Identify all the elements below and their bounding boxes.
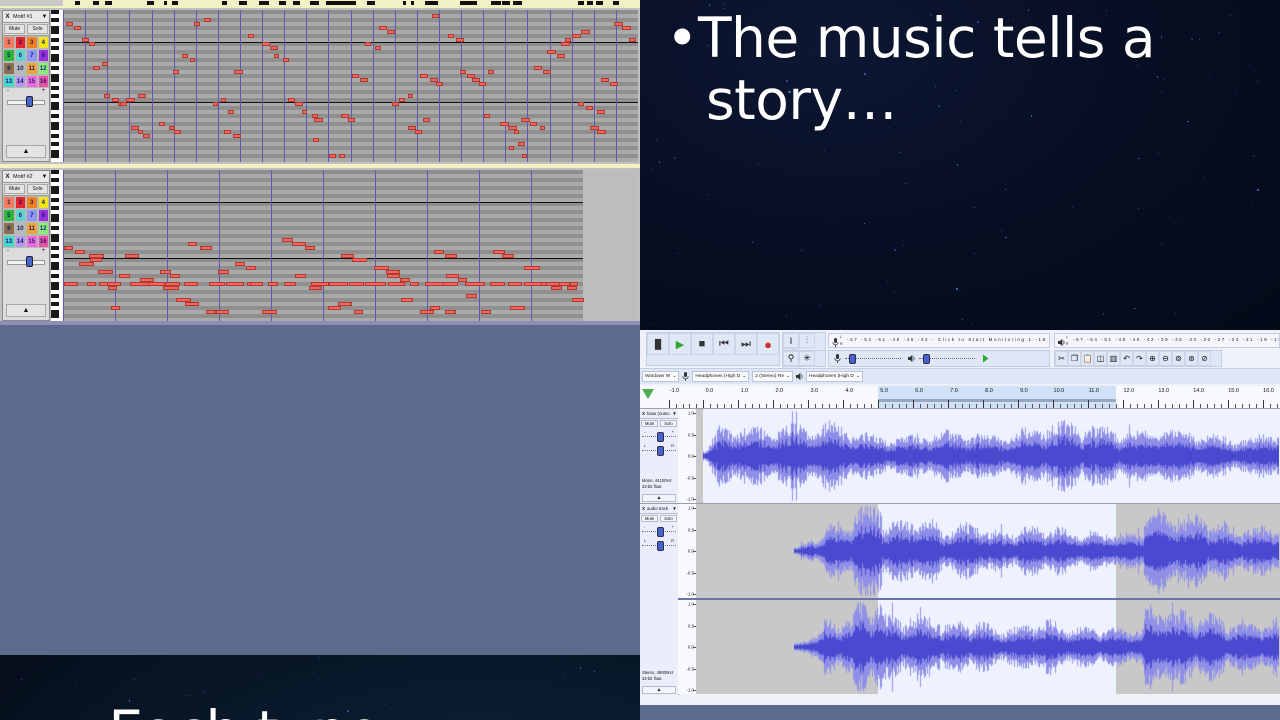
paste-button[interactable]: 📋 [1081, 351, 1094, 366]
midi-note[interactable] [484, 114, 490, 118]
midi-note[interactable] [339, 154, 346, 158]
midi-note[interactable] [349, 282, 364, 286]
midi-note[interactable] [401, 298, 413, 302]
midi-note[interactable] [226, 282, 244, 286]
piano-black-key[interactable] [51, 286, 59, 290]
midi-note[interactable] [93, 66, 100, 70]
midi-note[interactable] [313, 138, 319, 142]
midi-note[interactable] [534, 66, 542, 70]
midi-note[interactable] [567, 286, 577, 290]
mixer-toolbar[interactable] [828, 350, 1050, 367]
midi-track-2-pattern-11[interactable]: 11 [26, 222, 38, 235]
midi-note[interactable] [524, 282, 542, 286]
audio-track-2-vertical-ruler-left[interactable]: 1.00.50.0-0.5-1.0 [678, 504, 697, 598]
midi-note[interactable] [75, 250, 85, 254]
midi-track-2-pattern-3[interactable]: 3 [26, 196, 38, 209]
midi-note[interactable] [524, 266, 540, 270]
midi-note[interactable] [423, 118, 430, 122]
midi-track-2-pattern-12[interactable]: 12 [38, 222, 50, 235]
midi-note[interactable] [224, 130, 231, 134]
midi-note[interactable] [338, 302, 353, 306]
piano-black-key[interactable] [51, 38, 59, 42]
piano-black-key[interactable] [51, 18, 59, 22]
midi-note[interactable] [565, 38, 571, 42]
midi-note[interactable] [514, 130, 519, 134]
slider-knob[interactable] [26, 256, 33, 267]
midi-track-1-header[interactable]: X Motif #1 ▼ Mute Solo 12345678910111213… [2, 10, 50, 162]
trim-audio-button[interactable]: ◫ [1094, 351, 1107, 366]
piano-black-key[interactable] [51, 86, 59, 90]
midi-note[interactable] [375, 46, 381, 50]
midi-note[interactable] [572, 34, 581, 38]
piano-black-key[interactable] [51, 170, 59, 174]
midi-note[interactable] [388, 282, 405, 286]
midi-track-2-pattern-13[interactable]: 13 [3, 235, 15, 248]
midi-note[interactable] [209, 282, 225, 286]
audio-track-2-waveform-right[interactable] [696, 600, 1280, 694]
chevron-down-icon[interactable]: ▼ [40, 174, 49, 180]
copy-button[interactable]: ❐ [1068, 351, 1081, 366]
piano-black-key[interactable] [51, 198, 59, 202]
midi-note[interactable] [262, 42, 270, 46]
audio-track-1-panel[interactable]: X base (outso ▼ Mute Solo - + L [640, 409, 679, 503]
midi-note[interactable] [508, 282, 522, 286]
midi-track-2-solo-button[interactable]: Solo [27, 184, 48, 194]
midi-note[interactable] [165, 282, 180, 286]
midi-note[interactable] [262, 310, 277, 314]
play-button[interactable]: ▶ [669, 333, 691, 355]
slider-knob[interactable] [657, 446, 664, 456]
piano-black-key[interactable] [51, 58, 59, 62]
midi-note[interactable] [456, 38, 464, 42]
slider-knob[interactable] [849, 354, 856, 364]
pause-button[interactable]: ▐▌ [647, 333, 669, 355]
midi-track-2-collapse-button[interactable]: ▲ [6, 304, 46, 317]
midi-track-1-pattern-15[interactable]: 15 [26, 75, 38, 88]
midi-track-1-pattern-grid[interactable]: 12345678910111213141516 [3, 36, 49, 88]
pinned-play-head-icon[interactable] [642, 389, 654, 399]
midi-track-1-name[interactable]: Motif #1 [12, 14, 40, 20]
audio-track-1-name[interactable]: base (outso [647, 411, 671, 416]
midi-note[interactable] [448, 34, 455, 38]
midi-note[interactable] [235, 262, 245, 266]
audio-track-2-panel[interactable]: X audio track ▼ Mute Solo - + L [640, 504, 679, 695]
device-toolbar[interactable]: Windows W ⌄Headphones (High D ⌄2 (Stereo… [640, 368, 1280, 384]
transport-toolbar[interactable]: ▐▌▶■⏮⏭● [646, 332, 780, 366]
midi-note[interactable] [163, 286, 179, 290]
midi-note[interactable] [365, 282, 386, 286]
midi-note[interactable] [250, 282, 263, 286]
chevron-down-icon[interactable]: ▼ [40, 14, 49, 20]
slider-knob[interactable] [26, 96, 33, 107]
midi-note[interactable] [430, 306, 440, 310]
midi-note[interactable] [111, 306, 121, 310]
midi-note[interactable] [87, 282, 96, 286]
midi-note[interactable] [434, 250, 444, 254]
midi-note[interactable] [420, 310, 435, 314]
midi-note[interactable] [126, 98, 135, 102]
recording-device-select[interactable]: Headphones (High D ⌄ [692, 371, 749, 382]
midi-note[interactable] [629, 38, 637, 42]
slider-knob[interactable] [923, 354, 930, 364]
midi-note[interactable] [488, 70, 494, 74]
audio-track-1[interactable]: X base (outso ▼ Mute Solo - + L [640, 408, 1280, 503]
midi-note[interactable] [143, 134, 150, 138]
piano-black-key[interactable] [51, 254, 59, 258]
redo-button[interactable]: ↷ [1133, 351, 1146, 366]
piano-black-key[interactable] [51, 134, 59, 138]
audio-track-2-mute-button[interactable]: Mute [641, 515, 658, 522]
midi-track-2[interactable]: X Motif #2 ▼ Mute Solo 12345678910111213… [0, 166, 640, 325]
midi-track-1-solo-button[interactable]: Solo [27, 24, 48, 34]
undo-button[interactable]: ↶ [1120, 351, 1133, 366]
midi-note[interactable] [561, 42, 570, 46]
midi-note[interactable] [329, 154, 337, 158]
stop-button[interactable]: ■ [691, 333, 713, 355]
midi-note[interactable] [387, 30, 395, 34]
audio-track-1-waveform[interactable] [696, 409, 1280, 503]
midi-note[interactable] [79, 262, 94, 266]
midi-note[interactable] [108, 286, 118, 290]
midi-track-2-pattern-1[interactable]: 1 [3, 196, 15, 209]
piano-black-key[interactable] [51, 154, 59, 158]
midi-note[interactable] [170, 274, 180, 278]
midi-note[interactable] [188, 242, 197, 246]
midi-note[interactable] [420, 74, 427, 78]
midi-note[interactable] [518, 142, 526, 146]
midi-note[interactable] [547, 50, 556, 54]
audio-track-2-gain-slider[interactable]: - + [642, 524, 676, 537]
zoom-tool[interactable]: ⚲ [783, 351, 799, 366]
midi-note[interactable] [597, 110, 605, 114]
midi-note[interactable] [173, 70, 179, 74]
piano-black-key[interactable] [51, 206, 59, 210]
slider-knob[interactable] [657, 432, 664, 442]
midi-note[interactable] [509, 146, 515, 150]
midi-note[interactable] [295, 274, 306, 278]
piano-black-key[interactable] [51, 274, 59, 278]
zoom-in-button[interactable]: ⊕ [1146, 351, 1159, 366]
midi-note[interactable] [510, 306, 525, 310]
midi-note[interactable] [64, 246, 73, 250]
record-button[interactable]: ● [757, 333, 779, 355]
audio-track-1-solo-button[interactable]: Solo [660, 420, 677, 427]
midi-note[interactable] [284, 282, 296, 286]
midi-note[interactable] [64, 282, 78, 286]
midi-track-1-pattern-1[interactable]: 1 [3, 36, 15, 49]
midi-note[interactable] [460, 70, 467, 74]
midi-note[interactable] [74, 26, 81, 30]
audio-track-2-name[interactable]: audio track [647, 506, 671, 511]
midi-track-1-note-area[interactable] [63, 10, 638, 162]
midi-note[interactable] [228, 110, 235, 114]
midi-note[interactable] [522, 154, 527, 158]
midi-track-1-pattern-4[interactable]: 4 [38, 36, 50, 49]
midi-note[interactable] [415, 130, 422, 134]
midi-track-2-pattern-5[interactable]: 5 [3, 209, 15, 222]
audio-track-2-solo-button[interactable]: Solo [660, 515, 677, 522]
midi-track-2-volume-slider[interactable]: - + [3, 248, 49, 274]
midi-note[interactable] [66, 22, 73, 26]
midi-note[interactable] [352, 74, 359, 78]
selection-tool[interactable]: I [783, 333, 799, 348]
recording-volume-slider[interactable] [843, 351, 903, 365]
waveform-canvas[interactable] [703, 409, 1279, 503]
midi-note[interactable] [159, 122, 165, 126]
midi-note[interactable] [130, 282, 149, 286]
tools-toolbar-row2[interactable]: ⚲✳↔ [782, 350, 826, 367]
midi-track-1-pattern-10[interactable]: 10 [15, 62, 27, 75]
envelope-tool[interactable]: ⫶ [799, 333, 815, 348]
waveform-canvas[interactable] [794, 600, 1279, 694]
midi-track-2-pattern-8[interactable]: 8 [38, 209, 50, 222]
midi-note[interactable] [570, 282, 578, 286]
midi-note[interactable] [174, 130, 181, 134]
midi-note[interactable] [148, 282, 165, 286]
audio-track-2-close-icon[interactable]: X [640, 506, 647, 511]
piano-black-key[interactable] [51, 246, 59, 250]
midi-track-2-note-area[interactable] [63, 170, 638, 321]
piano-black-key[interactable] [51, 30, 59, 34]
fit-selection-button[interactable]: ⊚ [1172, 351, 1185, 366]
piano-black-key[interactable] [51, 10, 59, 14]
audio-host-select[interactable]: Windows W ⌄ [642, 371, 679, 382]
midi-note[interactable] [89, 42, 95, 46]
audio-track-1-gain-slider[interactable]: - + [642, 429, 676, 442]
waveform-canvas[interactable] [794, 504, 1279, 598]
midi-note[interactable] [410, 282, 419, 286]
midi-note[interactable] [90, 258, 102, 262]
midi-track-1-pattern-14[interactable]: 14 [15, 75, 27, 88]
midi-note[interactable] [572, 298, 584, 302]
piano-black-key[interactable] [51, 226, 59, 230]
midi-note[interactable] [445, 310, 456, 314]
midi-note[interactable] [490, 282, 505, 286]
midi-track-1-pattern-16[interactable]: 16 [38, 75, 50, 88]
midi-note[interactable] [120, 102, 128, 106]
audio-track-2-vertical-ruler-right[interactable]: 1.00.50.0-0.5-1.0 [678, 600, 697, 694]
midi-note[interactable] [182, 54, 188, 58]
piano-black-key[interactable] [51, 46, 59, 50]
midi-note[interactable] [305, 246, 315, 250]
midi-note[interactable] [586, 106, 593, 110]
midi-track-1-pattern-3[interactable]: 3 [26, 36, 38, 49]
midi-note[interactable] [466, 294, 477, 298]
midi-note[interactable] [274, 54, 280, 58]
midi-note[interactable] [268, 282, 277, 286]
skip-to-start-button[interactable]: ⏮ [713, 333, 735, 355]
midi-note[interactable] [119, 274, 131, 278]
midi-note[interactable] [543, 70, 551, 74]
midi-note[interactable] [530, 122, 537, 126]
playback-volume-slider[interactable] [917, 351, 977, 365]
midi-note[interactable] [218, 270, 230, 274]
audio-track-1-collapse-button[interactable]: ▲ [642, 494, 676, 502]
midi-note[interactable] [481, 310, 491, 314]
midi-note[interactable] [82, 38, 89, 42]
audio-clip-mono[interactable] [703, 409, 1280, 503]
midi-note[interactable] [352, 258, 367, 262]
midi-note[interactable] [213, 102, 218, 106]
midi-note[interactable] [292, 242, 307, 246]
midi-note[interactable] [190, 58, 195, 62]
midi-note[interactable] [233, 134, 242, 138]
silence-audio-button[interactable]: ▥ [1107, 351, 1120, 366]
piano-black-key[interactable] [51, 178, 59, 182]
midi-note[interactable] [107, 282, 121, 286]
audio-track-2-waveform-left[interactable] [696, 504, 1280, 598]
midi-note[interactable] [399, 98, 405, 102]
piano-black-key[interactable] [51, 114, 59, 118]
fit-project-button[interactable]: ⊛ [1185, 351, 1198, 366]
zoom-out-button[interactable]: ⊖ [1159, 351, 1172, 366]
midi-track-1-pattern-13[interactable]: 13 [3, 75, 15, 88]
audio-clip-channel-right[interactable] [794, 600, 1280, 694]
midi-note[interactable] [200, 246, 212, 250]
midi-note[interactable] [302, 110, 307, 114]
piano-black-key[interactable] [51, 66, 59, 70]
midi-track-1-pattern-11[interactable]: 11 [26, 62, 38, 75]
midi-track-2-pattern-14[interactable]: 14 [15, 235, 27, 248]
piano-black-key[interactable] [51, 294, 59, 298]
midi-note[interactable] [234, 70, 243, 74]
midi-note[interactable] [295, 102, 303, 106]
audio-track-2[interactable]: X audio track ▼ Mute Solo - + L [640, 503, 1280, 695]
midi-track-2-pattern-9[interactable]: 9 [3, 222, 15, 235]
slider-knob[interactable] [657, 527, 664, 537]
playback-meter-toolbar[interactable]: LR -57 -54 -51 -48 -45 -42 -39 -36 -33 -… [1054, 333, 1280, 348]
midi-note[interactable] [578, 102, 584, 106]
midi-track-1-pattern-6[interactable]: 6 [15, 49, 27, 62]
midi-note[interactable] [311, 282, 330, 286]
midi-track-1-pattern-12[interactable]: 12 [38, 62, 50, 75]
cut-button[interactable]: ✂ [1055, 351, 1068, 366]
multi-tool[interactable]: ✳ [799, 351, 815, 366]
midi-note[interactable] [502, 254, 514, 258]
audio-clip-channel-left[interactable] [794, 504, 1280, 598]
midi-note[interactable] [557, 54, 565, 58]
midi-note[interactable] [622, 26, 631, 30]
midi-note[interactable] [365, 42, 371, 46]
chevron-down-icon[interactable]: ▼ [671, 411, 678, 416]
midi-track-2-pattern-16[interactable]: 16 [38, 235, 50, 248]
zoom-toggle-button[interactable]: ⊘ [1198, 351, 1211, 366]
midi-note[interactable] [328, 306, 341, 310]
midi-note[interactable] [601, 78, 609, 82]
piano-black-key[interactable] [51, 126, 59, 130]
piano-black-key[interactable] [51, 238, 59, 242]
midi-note[interactable] [314, 118, 323, 122]
midi-note[interactable] [479, 82, 486, 86]
midi-note[interactable] [185, 302, 199, 306]
audio-track-2-collapse-button[interactable]: ▲ [642, 686, 676, 694]
midi-note[interactable] [270, 46, 278, 50]
midi-track-2-pattern-7[interactable]: 7 [26, 209, 38, 222]
audio-track-1-close-icon[interactable]: X [640, 411, 647, 416]
midi-note[interactable] [408, 94, 413, 98]
midi-note[interactable] [184, 282, 198, 286]
midi-note[interactable] [216, 310, 229, 314]
piano-black-key[interactable] [51, 218, 59, 222]
midi-note[interactable] [610, 82, 617, 86]
midi-note[interactable] [445, 254, 457, 258]
midi-track-1[interactable]: X Motif #1 ▼ Mute Solo 12345678910111213… [0, 6, 640, 166]
slider-knob[interactable] [657, 541, 664, 551]
midi-note[interactable] [436, 82, 443, 86]
midi-track-2-mute-button[interactable]: Mute [4, 184, 25, 194]
midi-note[interactable] [465, 282, 485, 286]
midi-track-2-pattern-15[interactable]: 15 [26, 235, 38, 248]
midi-track-2-name[interactable]: Motif #2 [12, 174, 40, 180]
audio-track-2-pan-slider[interactable]: L R [642, 538, 676, 551]
midi-track-2-pattern-2[interactable]: 2 [15, 196, 27, 209]
midi-note[interactable] [329, 282, 348, 286]
midi-track-1-pattern-8[interactable]: 8 [38, 49, 50, 62]
midi-note[interactable] [540, 126, 545, 130]
midi-note[interactable] [387, 274, 400, 278]
midi-note[interactable] [379, 26, 387, 30]
midi-track-2-header[interactable]: X Motif #2 ▼ Mute Solo 12345678910111213… [2, 170, 50, 321]
midi-track-1-close-icon[interactable]: X [3, 14, 12, 20]
audio-track-1-mute-button[interactable]: Mute [641, 420, 658, 427]
midi-track-2-pattern-grid[interactable]: 12345678910111213141516 [3, 196, 49, 248]
audio-track-1-vertical-ruler[interactable]: 1.00.50.0-0.5-1.0 [678, 409, 697, 503]
midi-note[interactable] [425, 282, 445, 286]
midi-note[interactable] [104, 94, 110, 98]
midi-note[interactable] [248, 34, 255, 38]
midi-track-1-pattern-2[interactable]: 2 [15, 36, 27, 49]
midi-note[interactable] [206, 310, 216, 314]
midi-note[interactable] [204, 18, 212, 22]
piano-black-key[interactable] [51, 314, 59, 318]
recording-meter-toolbar[interactable]: LR -57 -54 -51 -48 -45 -42 - Click to St… [828, 333, 1050, 348]
midi-note[interactable] [125, 254, 140, 258]
audio-track-1-pan-slider[interactable]: L R [642, 443, 676, 456]
midi-note[interactable] [443, 282, 458, 286]
edit-toolbar[interactable]: ✂❐📋◫▥↶↷⊕⊖⊚⊛⊘ [1054, 350, 1222, 367]
midi-track-2-pattern-10[interactable]: 10 [15, 222, 27, 235]
midi-track-1-mute-button[interactable]: Mute [4, 24, 25, 34]
chevron-down-icon[interactable]: ▼ [671, 506, 678, 511]
midi-note[interactable] [546, 282, 561, 286]
midi-note[interactable] [194, 22, 200, 26]
midi-track-1-pattern-5[interactable]: 5 [3, 49, 15, 62]
midi-note[interactable] [521, 118, 530, 122]
piano-black-key[interactable] [51, 106, 59, 110]
skip-to-end-button[interactable]: ⏭ [735, 333, 757, 355]
piano-black-key[interactable] [51, 94, 59, 98]
midi-note[interactable] [221, 98, 227, 102]
timeline-ruler[interactable]: -1.00.01.02.03.04.05.06.07.08.09.010.011… [640, 386, 1280, 409]
midi-track-2-pattern-4[interactable]: 4 [38, 196, 50, 209]
piano-black-key[interactable] [51, 190, 59, 194]
midi-note[interactable] [102, 62, 107, 66]
midi-note[interactable] [283, 58, 289, 62]
midi-note[interactable] [360, 78, 368, 82]
midi-track-2-close-icon[interactable]: X [3, 174, 12, 180]
midi-track-1-collapse-button[interactable]: ▲ [6, 145, 46, 158]
midi-note[interactable] [246, 266, 256, 270]
midi-track-1-pattern-9[interactable]: 9 [3, 62, 15, 75]
piano-black-key[interactable] [51, 302, 59, 306]
midi-note[interactable] [354, 310, 364, 314]
playback-device-select[interactable]: Headphones (High D ⌄ [806, 371, 863, 382]
piano-black-key[interactable] [51, 142, 59, 146]
midi-note[interactable] [392, 102, 399, 106]
midi-track-1-pattern-7[interactable]: 7 [26, 49, 38, 62]
midi-note[interactable] [348, 118, 355, 122]
midi-note[interactable] [98, 270, 113, 274]
